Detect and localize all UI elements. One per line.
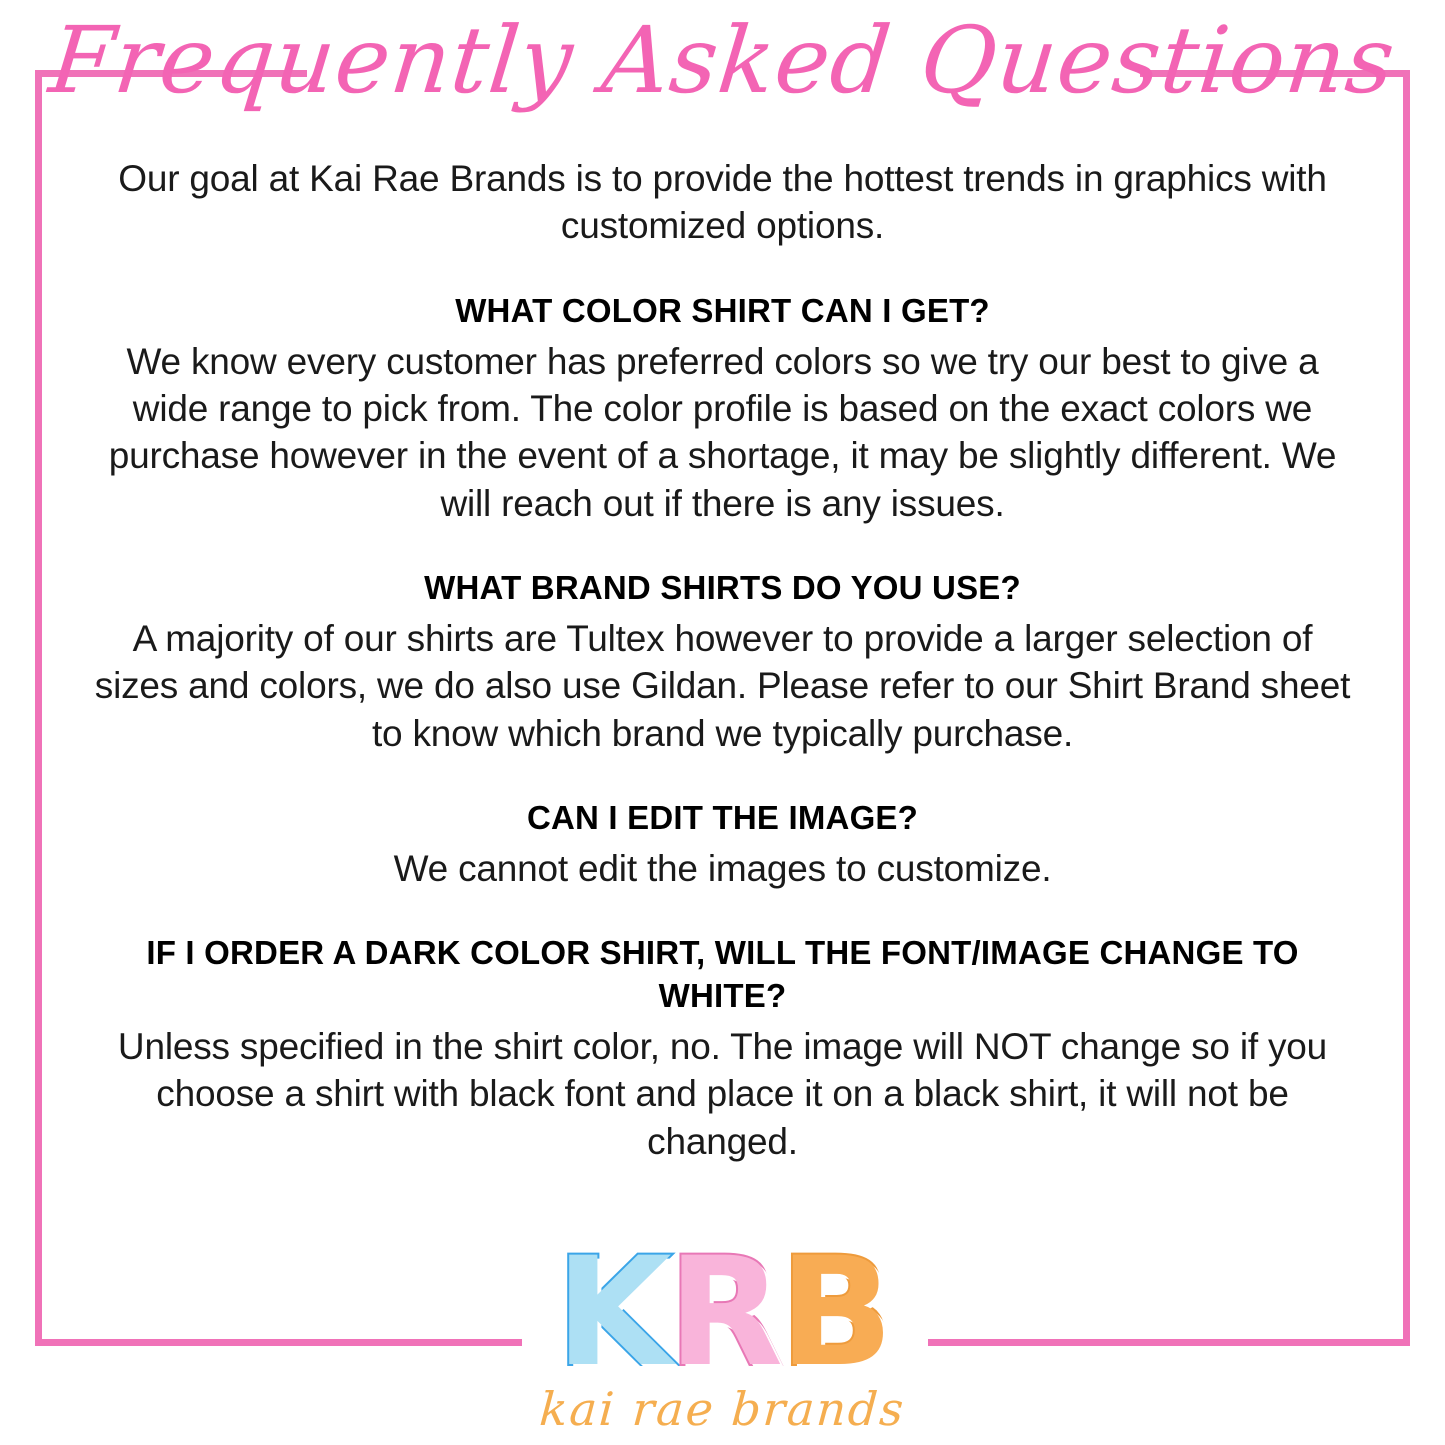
logo-letters: KRB xyxy=(555,1238,889,1388)
frame-right-segment xyxy=(1403,70,1410,1346)
faq-answer: Unless specified in the shirt color, no.… xyxy=(90,1023,1355,1165)
faq-answer: A majority of our shirts are Tultex howe… xyxy=(90,615,1355,757)
intro-paragraph: Our goal at Kai Rae Brands is to provide… xyxy=(90,155,1355,250)
logo-letter-b: B xyxy=(779,1238,889,1388)
faq-answer: We know every customer has preferred col… xyxy=(90,338,1355,527)
faq-item-edit-image: CAN I EDIT THE IMAGE? We cannot edit the… xyxy=(90,797,1355,892)
faq-content: Our goal at Kai Rae Brands is to provide… xyxy=(90,155,1355,1165)
faq-item-dark-shirt: IF I ORDER A DARK COLOR SHIRT, WILL THE … xyxy=(90,932,1355,1165)
faq-item-brand-shirts: WHAT BRAND SHIRTS DO YOU USE? A majority… xyxy=(90,567,1355,757)
logo-tagline: kai rae brands xyxy=(0,1382,1445,1436)
faq-graphic-canvas: Frequently Asked Questions Our goal at K… xyxy=(0,0,1445,1445)
faq-question: WHAT BRAND SHIRTS DO YOU USE? xyxy=(90,567,1355,610)
brand-logo: KRB kai rae brands xyxy=(0,1238,1445,1436)
logo-letter-r: R xyxy=(668,1238,780,1388)
faq-question: CAN I EDIT THE IMAGE? xyxy=(90,797,1355,840)
faq-question: WHAT COLOR SHIRT CAN I GET? xyxy=(90,290,1355,333)
faq-answer: We cannot edit the images to customize. xyxy=(90,845,1355,892)
logo-letter-k: K xyxy=(555,1238,667,1388)
faq-item-color-shirt: WHAT COLOR SHIRT CAN I GET? We know ever… xyxy=(90,290,1355,527)
faq-question: IF I ORDER A DARK COLOR SHIRT, WILL THE … xyxy=(90,932,1355,1018)
page-title: Frequently Asked Questions xyxy=(0,8,1445,114)
frame-left-segment xyxy=(35,70,42,1346)
